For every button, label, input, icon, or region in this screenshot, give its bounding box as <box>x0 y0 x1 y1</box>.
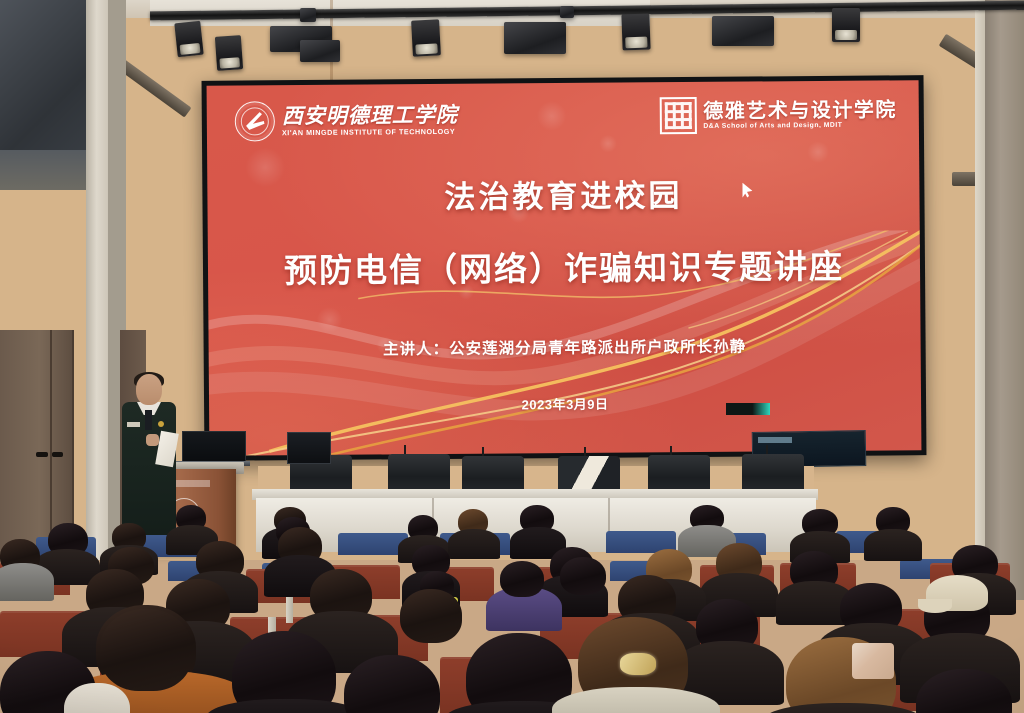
spotlight-4 <box>621 14 650 51</box>
floodlight-2 <box>504 22 566 54</box>
university-name-en: XI'AN MINGDE INSTITUTE OF TECHNOLOGY <box>282 128 458 137</box>
monitor-glow <box>758 437 792 443</box>
university-emblem-icon <box>235 101 275 141</box>
ceiling-equipment <box>0 0 96 170</box>
audience <box>0 505 1024 713</box>
door-handle-right[interactable] <box>52 452 63 457</box>
projection-screen-frame: 西安明德理工学院 XI'AN MINGDE INSTITUTE OF TECHN… <box>202 75 927 461</box>
slide-speaker-line: 主讲人：公安莲湖分局青年路派出所户政所长孙静 <box>209 333 921 361</box>
spotlight-5 <box>832 8 860 42</box>
secondary-laptop[interactable] <box>287 432 331 464</box>
screen-cable-marker <box>726 403 770 415</box>
truss-clamp-1 <box>300 8 316 22</box>
square-seal-icon <box>659 97 696 134</box>
lecture-hall-photo: 西安明德理工学院 XI'AN MINGDE INSTITUTE OF TECHN… <box>0 0 1024 713</box>
slide-header: 西安明德理工学院 XI'AN MINGDE INSTITUTE OF TECHN… <box>207 80 920 156</box>
spotlight-3 <box>411 19 441 56</box>
presenter-laptop-screen[interactable] <box>182 431 246 464</box>
school-logo: 德雅艺术与设计学院 D&A School of Arts and Design,… <box>659 95 897 134</box>
slide-title-line2: 预防电信（网络）诈骗知识专题讲座 <box>208 239 920 293</box>
university-name-cn: 西安明德理工学院 <box>282 104 458 126</box>
school-name-cn: 德雅艺术与设计学院 <box>703 99 897 121</box>
university-logo: 西安明德理工学院 XI'AN MINGDE INSTITUTE OF TECHN… <box>235 100 458 142</box>
school-name-en: D&A School of Arts and Design, MDIT <box>703 122 897 130</box>
ceiling-equipment-secondary <box>0 150 92 190</box>
floodlight-3 <box>712 16 774 46</box>
spotlight-1 <box>174 21 203 58</box>
floodlight-1b <box>300 40 340 62</box>
spotlight-2 <box>215 35 243 71</box>
truss-clamp-2 <box>560 6 574 18</box>
slide-title-line1: 法治教育进校园 <box>207 168 919 219</box>
projection-screen[interactable]: 西安明德理工学院 XI'AN MINGDE INSTITUTE OF TECHN… <box>207 80 922 456</box>
slide-body: 法治教育进校园 预防电信（网络）诈骗知识专题讲座 主讲人：公安莲湖分局青年路派出… <box>207 168 921 416</box>
door-handle-left[interactable] <box>36 452 48 457</box>
